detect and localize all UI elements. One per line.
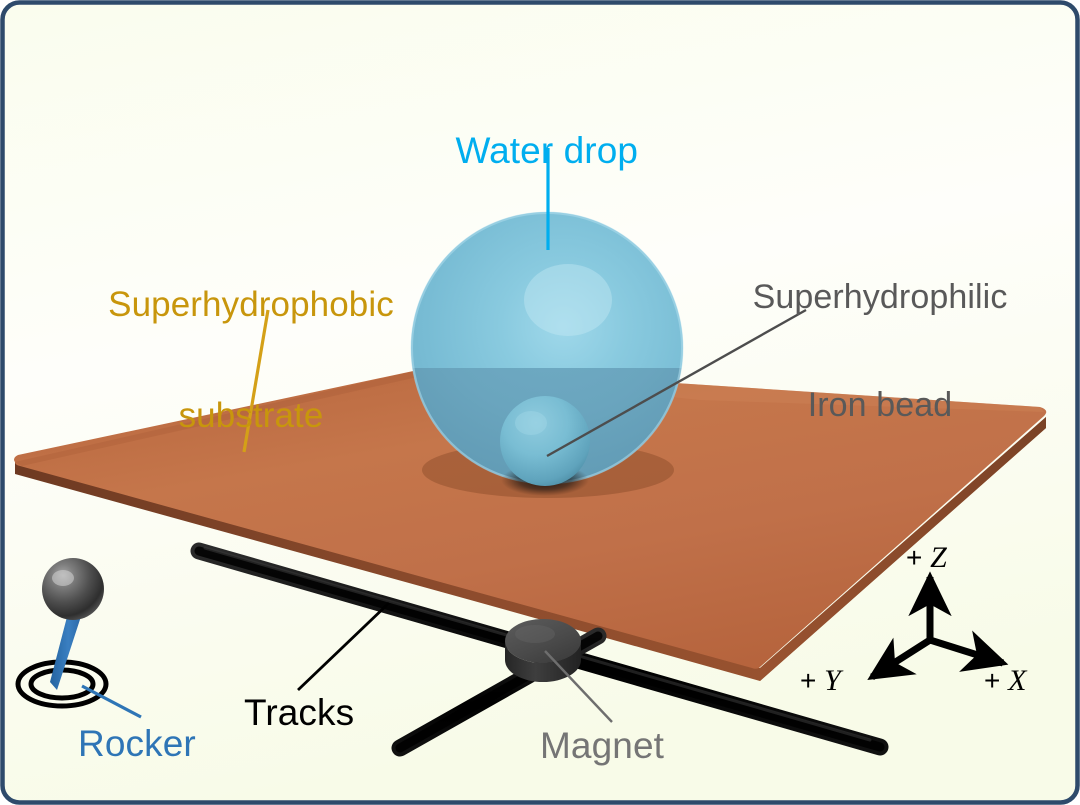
magnet-puck <box>505 619 581 682</box>
label-superhydrophilic-line2: Iron bead <box>700 387 1060 423</box>
label-superhydrophilic-iron-bead: Superhydrophilic Iron bead <box>700 207 1060 495</box>
axis-y-letter: Y <box>824 664 841 697</box>
axis-label-x: + X <box>984 664 1026 698</box>
label-magnet: Magnet <box>540 726 664 765</box>
axis-z-sign: + <box>906 542 922 573</box>
label-superhydrophobic-line2: substrate <box>46 397 456 434</box>
axis-z-letter: Z <box>930 541 947 574</box>
label-superhydrophilic-line1: Superhydrophilic <box>700 279 1060 315</box>
axis-y-sign: + <box>800 665 816 696</box>
axis-label-z: + Z <box>906 541 947 575</box>
figure-container: Water drop Superhydrophobic substrate Su… <box>0 0 1080 805</box>
label-rocker: Rocker <box>78 724 196 763</box>
label-superhydrophobic-line1: Superhydrophobic <box>46 286 456 323</box>
iron-bead-sphere <box>500 396 590 496</box>
label-superhydrophobic-substrate: Superhydrophobic substrate <box>46 212 456 509</box>
axis-x-letter: X <box>1008 664 1026 697</box>
label-tracks: Tracks <box>244 693 354 732</box>
label-water-drop: Water drop <box>0 92 1080 210</box>
axis-label-y: + Y <box>800 664 841 698</box>
axis-x-sign: + <box>984 665 1000 696</box>
